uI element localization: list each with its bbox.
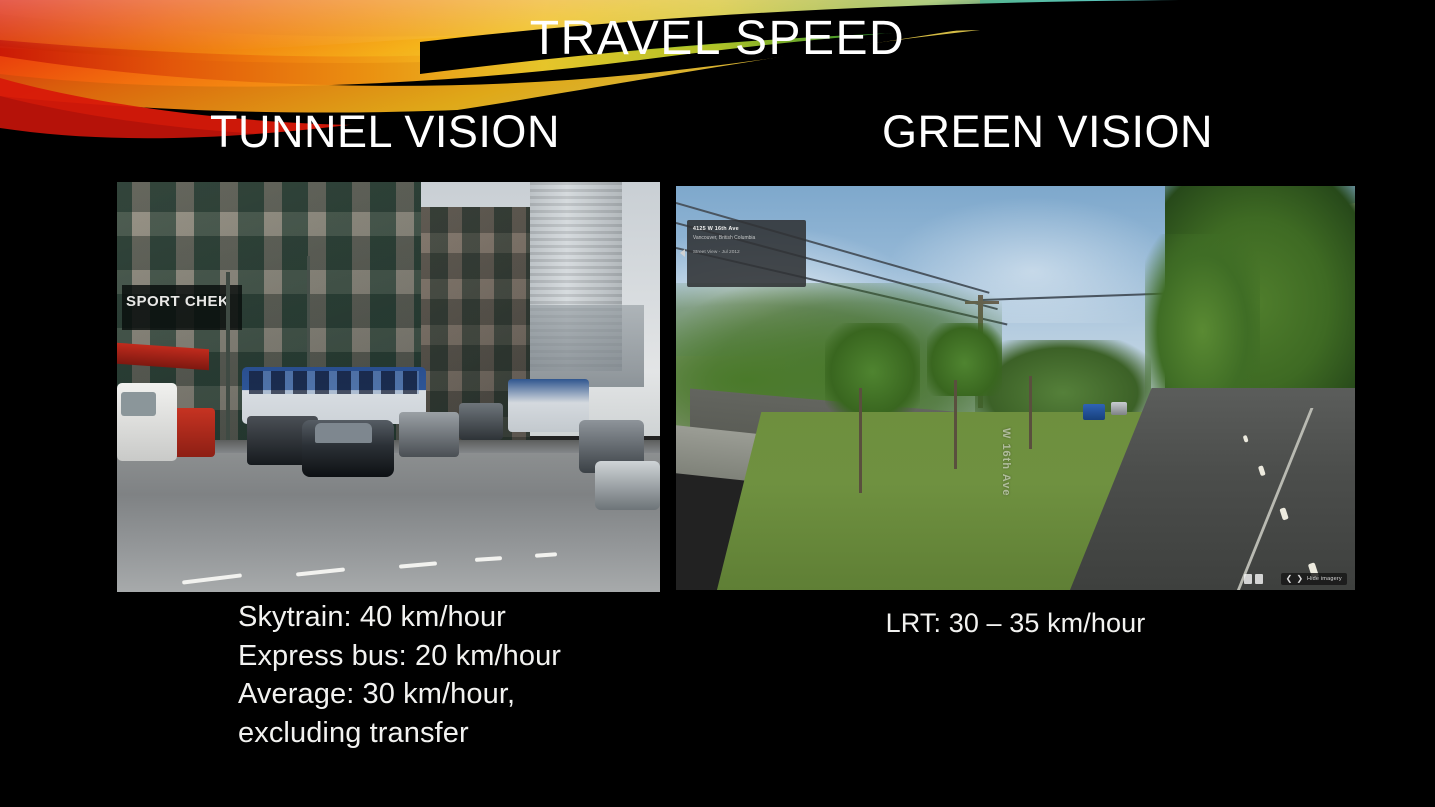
slide-title: TRAVEL SPEED	[0, 14, 1435, 64]
imagery-bar-label: Hide imagery	[1307, 576, 1342, 582]
green-vision-caption: LRT: 30 – 35 km/hour	[676, 608, 1355, 639]
transit-bus-second	[508, 379, 589, 432]
streetview-imagery-bar[interactable]: ❮ ❯ Hide imagery	[1281, 573, 1347, 585]
lane-marking	[535, 552, 557, 558]
report-button-icon[interactable]	[1255, 574, 1263, 584]
lane-marking	[182, 573, 242, 584]
red-vehicle	[171, 408, 214, 457]
lane-marking	[475, 556, 502, 562]
sapling-canopy	[825, 323, 920, 412]
street-pole-1	[226, 272, 230, 444]
sapling-trunk	[859, 388, 862, 493]
sapling-canopy	[927, 323, 1002, 396]
distant-car-blue	[1083, 404, 1105, 420]
car	[399, 412, 459, 457]
info-button-icon[interactable]	[1244, 574, 1252, 584]
slide-canvas: TRAVEL SPEED TUNNEL VISION GREEN VISION …	[0, 0, 1435, 807]
sapling-trunk	[1029, 376, 1032, 449]
chevron-left-icon[interactable]: ❮	[1286, 575, 1293, 583]
lane-marking	[296, 567, 345, 576]
streetview-controls[interactable]	[1244, 574, 1263, 584]
right-column-heading: GREEN VISION	[660, 108, 1435, 155]
sapling-trunk	[954, 380, 957, 469]
streetview-address: 4125 W 16th Ave	[693, 225, 800, 233]
streetview-date: Street View - Jul 2012	[693, 249, 800, 257]
car	[302, 420, 394, 477]
distant-car-white	[1111, 402, 1127, 415]
car	[595, 461, 660, 510]
lane-marking	[399, 561, 437, 568]
street-name-watermark: W 16th Ave	[1000, 428, 1012, 496]
background-skyline	[513, 305, 643, 387]
streetview-city: Vancouver, British Columbia	[693, 234, 800, 242]
storefront-sign: SPORT CHEK	[122, 285, 241, 330]
tunnel-vision-photo: SPORT CHEK	[117, 182, 660, 592]
white-van	[117, 383, 177, 461]
left-column-heading: TUNNEL VISION	[0, 108, 770, 155]
back-arrow-icon[interactable]	[680, 249, 685, 257]
green-vision-photo: 4125 W 16th Ave Vancouver, British Colum…	[676, 186, 1355, 590]
storefront-sign-label: SPORT CHEK	[126, 293, 229, 310]
car	[459, 403, 502, 440]
streetview-info-card[interactable]: 4125 W 16th Ave Vancouver, British Colum…	[687, 220, 806, 287]
chevron-right-icon[interactable]: ❯	[1296, 575, 1303, 583]
tunnel-vision-caption: Skytrain: 40 km/hour Express bus: 20 km/…	[238, 598, 561, 752]
